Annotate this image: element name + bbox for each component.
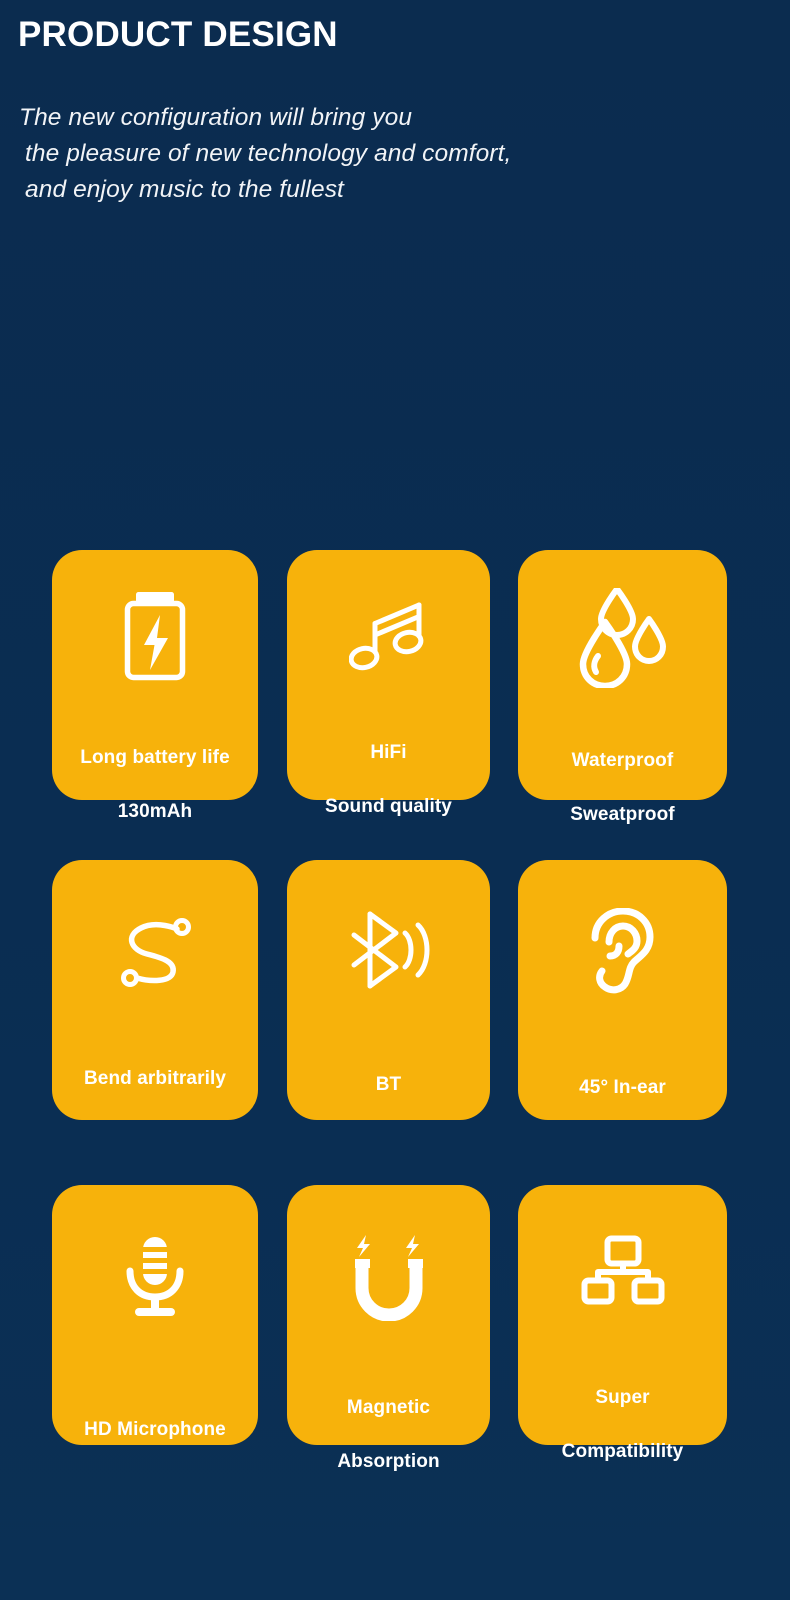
battery-bolt-icon [52, 550, 258, 684]
subtitle-line-3: and enjoy music to the fullest [19, 172, 511, 208]
ear-icon [518, 860, 727, 994]
feature-card-label: 45° In-ear [579, 1047, 666, 1101]
subtitle-line-1: The new configuration will bring you [19, 100, 511, 136]
label-line-1: Super [595, 1387, 649, 1408]
feature-card-super-compatibility[interactable]: Super Compatibility [518, 1185, 727, 1445]
label-line-1: HD Microphone [84, 1419, 226, 1440]
feature-card-waterproof-sweatproof[interactable]: Waterproof Sweatproof [518, 550, 727, 800]
feature-card-magnetic-absorption[interactable]: Magnetic Absorption [287, 1185, 490, 1445]
feature-card-label: Bend arbitrarily [84, 1038, 226, 1092]
feature-card-label: Magnetic Absorption [337, 1367, 439, 1475]
feature-card-hd-microphone[interactable]: HD Microphone [52, 1185, 258, 1445]
label-line-1: Bend arbitrarily [84, 1068, 226, 1089]
feature-card-label: HD Microphone [84, 1389, 226, 1443]
label-line-2: Compatibility [562, 1441, 684, 1462]
bend-curve-icon [52, 860, 258, 990]
feature-card-long-battery-life[interactable]: Long battery life 130mAh [52, 550, 258, 800]
label-line-1: HiFi [370, 742, 406, 763]
water-droplets-icon [518, 550, 727, 688]
feature-card-bt[interactable]: BT [287, 860, 490, 1120]
feature-card-label: Long battery life 130mAh [80, 717, 230, 825]
music-note-icon [287, 550, 490, 674]
label-line-1: Long battery life [80, 747, 230, 768]
page-subtitle: The new configuration will bring you the… [19, 100, 511, 208]
bluetooth-signal-icon [287, 860, 490, 992]
product-design-page: PRODUCT DESIGN The new configuration wil… [0, 0, 790, 1600]
label-line-2: Sound quality [325, 796, 452, 817]
feature-card-label: HiFi Sound quality [325, 712, 452, 820]
label-line-2: 130mAh [118, 801, 193, 822]
label-line-1: Waterproof [572, 750, 674, 771]
label-line-2: Sweatproof [570, 804, 674, 825]
label-line-2: Absorption [337, 1451, 439, 1472]
feature-card-label: Waterproof Sweatproof [570, 720, 674, 828]
label-line-1: Magnetic [347, 1397, 430, 1418]
feature-card-45-in-ear[interactable]: 45° In-ear [518, 860, 727, 1120]
magnet-icon [287, 1185, 490, 1321]
label-line-1: 45° In-ear [579, 1077, 666, 1098]
label-line-1: BT [376, 1074, 402, 1095]
device-network-icon [518, 1185, 727, 1307]
feature-card-bend-arbitrarily[interactable]: Bend arbitrarily [52, 860, 258, 1120]
feature-card-label: Super Compatibility [562, 1357, 684, 1465]
microphone-icon [52, 1185, 258, 1319]
page-title: PRODUCT DESIGN [18, 14, 338, 56]
feature-card-hifi-sound-quality[interactable]: HiFi Sound quality [287, 550, 490, 800]
feature-card-label: BT [376, 1044, 402, 1098]
subtitle-line-2: the pleasure of new technology and comfo… [19, 136, 511, 172]
